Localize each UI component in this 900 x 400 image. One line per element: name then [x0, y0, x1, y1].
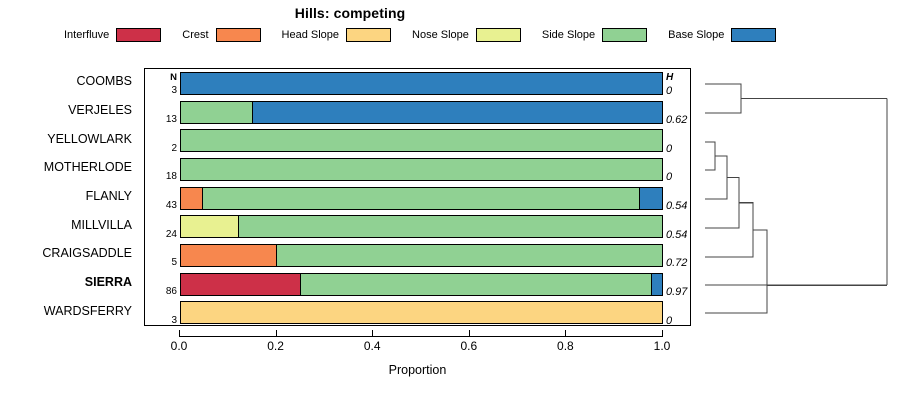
- x-axis-tick: [179, 330, 180, 337]
- n-value: 18: [145, 171, 177, 182]
- dendrogram-svg: [691, 68, 900, 326]
- n-value: 5: [145, 257, 177, 268]
- n-value: 43: [145, 200, 177, 211]
- n-value: 24: [145, 229, 177, 240]
- y-axis-label: VERJELES: [0, 103, 132, 117]
- y-axis-label: CRAIGSADDLE: [0, 246, 132, 260]
- legend-item: Side Slope: [542, 28, 647, 42]
- bar-segment: [181, 302, 662, 323]
- stacked-bar: [180, 215, 663, 238]
- stacked-bar: [180, 158, 663, 181]
- bar-segment: [239, 216, 662, 237]
- n-value: 13: [145, 114, 177, 125]
- legend-item-label: Head Slope: [282, 29, 340, 41]
- legend-swatch: [216, 28, 261, 42]
- legend: InterfluveCrestHead SlopeNose SlopeSide …: [64, 25, 784, 45]
- bar-segment: [253, 102, 662, 123]
- stacked-bar: [180, 244, 663, 267]
- legend-item: Interfluve: [64, 28, 161, 42]
- x-axis-tick-label: 0.8: [545, 339, 585, 353]
- bar-segment: [181, 159, 662, 180]
- legend-item: Crest: [182, 28, 260, 42]
- y-axis-label: SIERRA: [0, 275, 132, 289]
- bar-segment: [181, 130, 662, 151]
- legend-swatch: [346, 28, 391, 42]
- x-axis: 0.00.20.40.60.81.0: [144, 326, 691, 366]
- legend-item-label: Nose Slope: [412, 29, 469, 41]
- n-value: 3: [145, 85, 177, 96]
- stacked-bar: [180, 187, 663, 210]
- legend-swatch: [476, 28, 521, 42]
- y-axis-label: WARDSFERRY: [0, 304, 132, 318]
- bar-segment: [181, 274, 301, 295]
- x-axis-tick: [469, 330, 470, 337]
- legend-item: Nose Slope: [412, 28, 521, 42]
- bar-segment: [652, 274, 662, 295]
- x-axis-tick: [662, 330, 663, 337]
- n-value: 2: [145, 143, 177, 154]
- legend-item-label: Interfluve: [64, 29, 109, 41]
- legend-item-label: Crest: [182, 29, 208, 41]
- bar-rows: NH30130.6220180430.54240.5450.72860.9730: [145, 69, 690, 325]
- y-axis-label: MOTHERLODE: [0, 160, 132, 174]
- x-axis-tick-label: 0.2: [256, 339, 296, 353]
- stacked-bar: [180, 129, 663, 152]
- n-value: 3: [145, 315, 177, 326]
- y-axis-label: MILLVILLA: [0, 218, 132, 232]
- stacked-bar: [180, 72, 663, 95]
- stacked-bar: [180, 301, 663, 324]
- legend-item: Head Slope: [282, 28, 392, 42]
- n-value: 86: [145, 286, 177, 297]
- x-axis-tick: [372, 330, 373, 337]
- bar-segment: [277, 245, 662, 266]
- x-axis-tick-label: 0.0: [159, 339, 199, 353]
- x-axis-tick: [276, 330, 277, 337]
- bar-segment: [301, 274, 652, 295]
- bar-segment: [181, 73, 662, 94]
- x-axis-tick-label: 1.0: [642, 339, 682, 353]
- bar-segment: [181, 245, 277, 266]
- legend-swatch: [602, 28, 647, 42]
- legend-item-label: Base Slope: [668, 29, 724, 41]
- plot-panel: NH30130.6220180430.54240.5450.72860.9730: [144, 68, 691, 326]
- x-axis-title: Proportion: [144, 363, 691, 377]
- legend-swatch: [731, 28, 776, 42]
- page-title: Hills: competing: [0, 5, 700, 21]
- x-axis-tick-label: 0.6: [449, 339, 489, 353]
- bar-segment: [181, 188, 203, 209]
- x-axis-tick-label: 0.4: [352, 339, 392, 353]
- y-axis-label: COOMBS: [0, 74, 132, 88]
- x-axis-tick: [565, 330, 566, 337]
- bar-segment: [640, 188, 662, 209]
- n-column-header: N: [145, 72, 177, 83]
- legend-item: Base Slope: [668, 28, 776, 42]
- y-axis-label: YELLOWLARK: [0, 132, 132, 146]
- stacked-bar: [180, 101, 663, 124]
- bar-segment: [181, 216, 239, 237]
- y-axis-labels: COOMBSVERJELESYELLOWLARKMOTHERLODEFLANLY…: [0, 68, 140, 326]
- y-axis-label: FLANLY: [0, 189, 132, 203]
- legend-item-label: Side Slope: [542, 29, 595, 41]
- bar-segment: [181, 102, 253, 123]
- stacked-bar: [180, 273, 663, 296]
- legend-swatch: [116, 28, 161, 42]
- x-axis-line: [179, 336, 662, 337]
- bar-segment: [203, 188, 641, 209]
- chart-root: Hills: competing InterfluveCrestHead Slo…: [0, 0, 900, 400]
- dendrogram: [691, 68, 900, 326]
